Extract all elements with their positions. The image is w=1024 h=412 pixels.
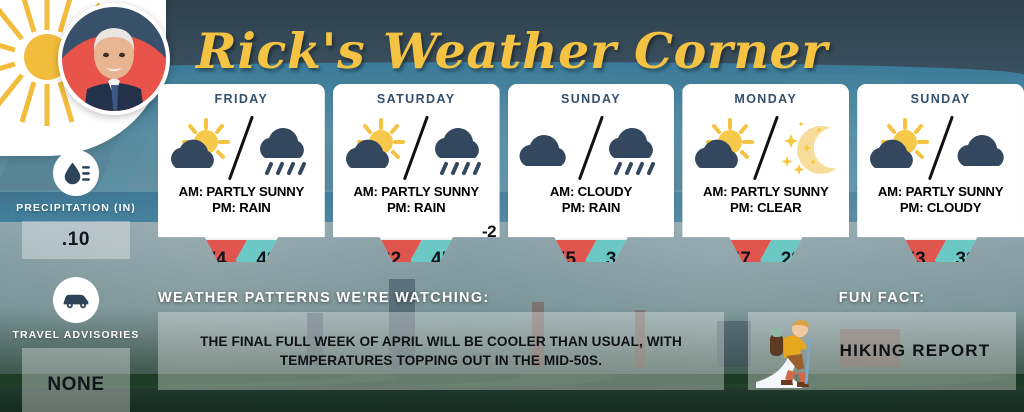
partly-sunny-icon <box>690 116 758 178</box>
forecast-day-label: FRIDAY <box>158 92 325 106</box>
avatar <box>58 3 170 115</box>
fun-fact-box[interactable]: HIKING REPORT <box>748 312 1016 390</box>
weather-graphic: Rick's Weather Corner PRECIPITATION (IN)… <box>0 0 1024 412</box>
forecast-day-label: SATURDAY <box>333 92 500 106</box>
forecast-icons <box>508 108 675 182</box>
forecast-am-text: AM: PARTLY SUNNY <box>685 184 846 200</box>
forecast-icons <box>333 108 500 182</box>
forecast-card[interactable]: SUNDAY AM: CLOUDY PM: RAIN <box>508 84 675 262</box>
forecast-day-label: SUNDAY <box>857 92 1024 106</box>
forecast-card[interactable]: SATURDAY <box>333 84 500 262</box>
forecast-am-text: AM: PARTLY SUNNY <box>336 184 497 200</box>
partly-sunny-icon <box>166 116 234 178</box>
forecast-am-text: AM: CLOUDY <box>511 184 672 200</box>
forecast-pm-text: PM: RAIN <box>161 200 322 216</box>
fun-fact-label: FUN FACT: <box>748 290 1016 306</box>
forecast-card[interactable]: SUNDAY AM: PARTLY SUNNY <box>857 84 1024 262</box>
forecast-icons <box>857 108 1024 182</box>
weather-patterns-text: THE FINAL FULL WEEK OF APRIL WILL BE COO… <box>174 332 708 370</box>
weather-patterns-box: THE FINAL FULL WEEK OF APRIL WILL BE COO… <box>158 312 724 390</box>
forecast-pm-text: PM: RAIN <box>336 200 497 216</box>
partly-sunny-icon <box>865 116 933 178</box>
rain-cloud-icon <box>602 116 670 178</box>
hiker-icon <box>754 314 840 388</box>
cloudy-icon <box>952 116 1020 178</box>
weather-patterns-section: WEATHER PATTERNS WE'RE WATCHING: THE FIN… <box>158 290 724 390</box>
sidebar-item-travel-advisories[interactable]: TRAVEL ADVISORIES NONE <box>0 277 152 412</box>
forecast-icons <box>682 108 849 182</box>
forecast-card[interactable]: FRIDAY <box>158 84 325 262</box>
travel-advisories-label: TRAVEL ADVISORIES <box>0 329 152 341</box>
weather-patterns-label: WEATHER PATTERNS WE'RE WATCHING: <box>158 290 724 306</box>
forecast-pm-text: PM: RAIN <box>511 200 672 216</box>
forecast-am-text: AM: PARTLY SUNNY <box>860 184 1021 200</box>
fun-fact-section: FUN FACT: HIKING REPORT <box>748 290 1016 390</box>
rain-cloud-icon <box>428 116 496 178</box>
overlay-artifact-text: -2 <box>482 222 496 242</box>
partly-sunny-icon <box>341 116 409 178</box>
precipitation-label: PRECIPITATION (IN) <box>0 202 152 214</box>
sidebar-item-precipitation[interactable]: PRECIPITATION (IN) .10 <box>0 150 152 259</box>
rain-cloud-icon <box>253 116 321 178</box>
forecast-pm-text: PM: CLOUDY <box>860 200 1021 216</box>
travel-advisories-value: NONE <box>22 348 130 412</box>
precipitation-droplet-icon <box>53 150 99 196</box>
forecast-am-text: AM: PARTLY SUNNY <box>161 184 322 200</box>
precipitation-value: .10 <box>22 221 130 259</box>
cloudy-icon <box>516 116 584 178</box>
car-icon <box>53 277 99 323</box>
sidebar: PRECIPITATION (IN) .10 TRAVEL ADVISORIES… <box>0 150 152 412</box>
forecast-pm-text: PM: CLEAR <box>685 200 846 216</box>
page-title: Rick's Weather Corner <box>196 18 666 84</box>
forecast-icons <box>158 108 325 182</box>
moon-stars-icon <box>777 116 845 178</box>
forecast-day-label: SUNDAY <box>508 92 675 106</box>
forecast-day-label: MONDAY <box>682 92 849 106</box>
forecast-row: FRIDAY <box>158 84 1024 274</box>
forecast-card[interactable]: MONDAY <box>682 84 849 262</box>
